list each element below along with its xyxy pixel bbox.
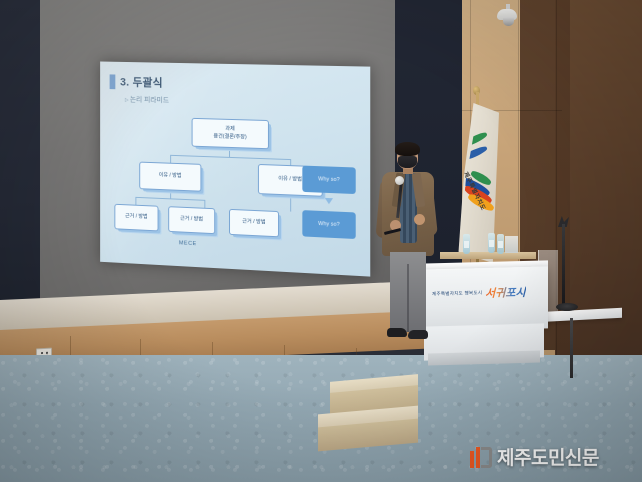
projection-screen: 3. 두괄식 논리 피라미드 과제 용건(결론/주장) xyxy=(100,61,370,276)
mece-label: MECE xyxy=(179,240,197,247)
water-bottle xyxy=(488,233,495,253)
connector xyxy=(135,197,205,201)
node-bottom-3-label: 근거 / 방법 xyxy=(242,219,265,228)
presenter-hair xyxy=(395,142,420,156)
why-so-box-2-label: Why so? xyxy=(318,221,340,228)
lectern-branding: 제주특별자치도 행복도시 서귀포시 xyxy=(432,281,540,306)
lectern-org-small: 제주특별자치도 행복도시 xyxy=(432,290,482,297)
presenter xyxy=(376,144,438,340)
node-middle-1-label: 이유 / 방법 xyxy=(159,172,182,180)
presenter-right-shoe xyxy=(408,330,428,339)
node-middle-2-label: 이유 / 방법 xyxy=(278,176,302,185)
back-table xyxy=(440,252,536,259)
presenter-left-shoe xyxy=(387,328,407,337)
water-bottle xyxy=(463,234,470,254)
presentation-slide: 3. 두괄식 논리 피라미드 과제 용건(결론/주장) xyxy=(100,61,370,276)
logic-pyramid-diagram: 과제 용건(결론/주장) 이유 / 방법 이유 / 방법 근거 / 방법 근거 … xyxy=(110,110,360,270)
face-mask-icon xyxy=(398,156,417,168)
watermark-text: 제주도민신문 xyxy=(497,443,599,470)
watermark: 제주도민신문 xyxy=(470,443,599,470)
arrow-down-icon xyxy=(325,198,333,204)
water-bottle xyxy=(497,234,504,254)
microphone-icon xyxy=(395,176,404,185)
camera-lens-icon xyxy=(503,17,514,26)
connector xyxy=(290,193,291,211)
connector xyxy=(170,190,171,198)
newspaper-logo-icon xyxy=(470,446,492,468)
node-bottom-3: 근거 / 방법 xyxy=(229,209,279,237)
node-bottom-2: 근거 / 방법 xyxy=(168,206,215,234)
node-top-line2: 용건(결론/주장) xyxy=(213,133,246,142)
photo-scene: 3. 두괄식 논리 피라미드 과제 용건(결론/주장) xyxy=(0,0,642,482)
wooden-steps xyxy=(318,378,418,450)
why-so-box-1: Why so? xyxy=(302,166,355,195)
node-bottom-2-label: 근거 / 방법 xyxy=(180,216,203,225)
node-middle-1: 이유 / 방법 xyxy=(139,162,201,192)
side-desk-leg xyxy=(570,318,573,378)
connector xyxy=(204,200,205,208)
connector xyxy=(229,147,230,157)
mic-stand-pole xyxy=(562,224,565,306)
title-accent-bar xyxy=(110,74,116,89)
slide-title-row: 3. 두괄식 xyxy=(110,73,360,95)
drinking-cup xyxy=(505,236,518,253)
node-top: 과제 용건(결론/주장) xyxy=(192,118,269,149)
presenter-right-hand xyxy=(414,214,425,225)
trouser-seam xyxy=(407,264,409,332)
logo-bar-2 xyxy=(476,447,480,468)
slide-subtitle: 논리 피라미드 xyxy=(125,94,360,110)
node-bottom-1: 근거 / 방법 xyxy=(114,204,158,232)
node-bottom-1-label: 근거 / 방법 xyxy=(125,213,147,221)
connector xyxy=(135,197,136,205)
why-so-box-1-label: Why so? xyxy=(318,176,340,183)
mic-stand-base xyxy=(556,303,578,311)
logo-bar-1 xyxy=(470,451,474,468)
lectern-org-big: 서귀포시 xyxy=(485,284,525,301)
why-so-box-2: Why so? xyxy=(302,210,355,239)
logo-square xyxy=(481,447,492,468)
connector xyxy=(170,155,291,160)
page-title: 3. 두괄식 xyxy=(120,74,163,91)
